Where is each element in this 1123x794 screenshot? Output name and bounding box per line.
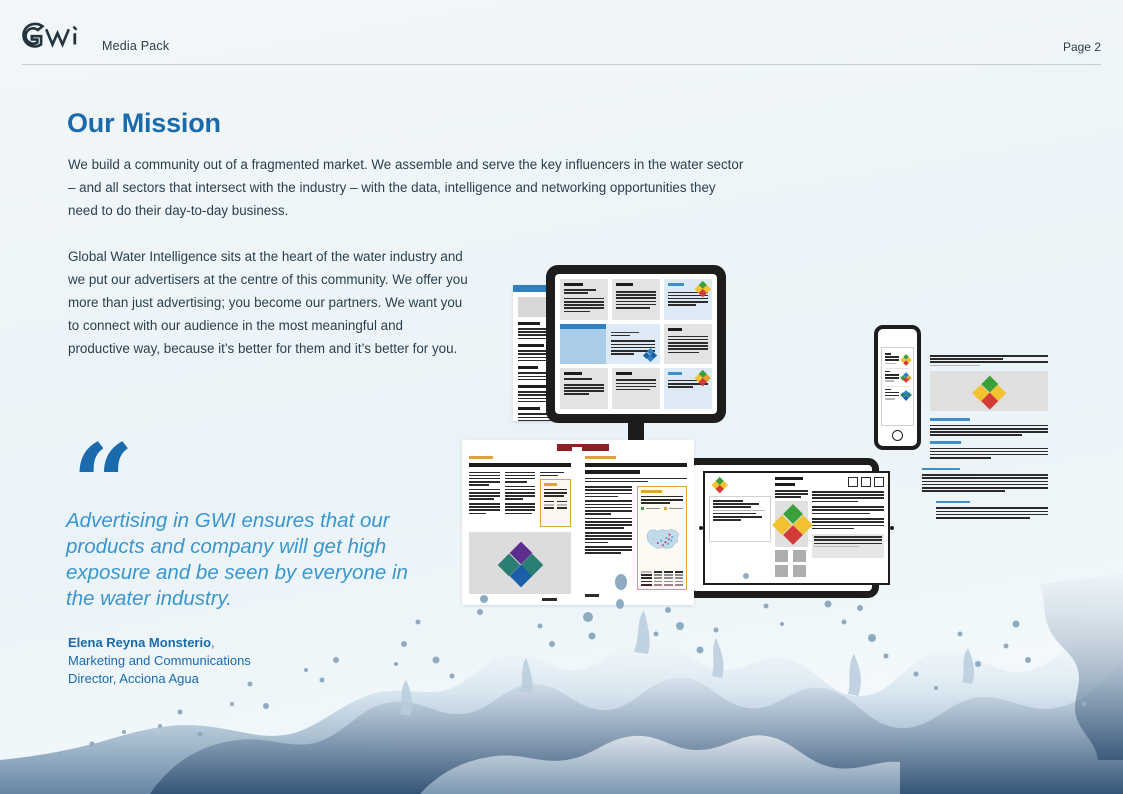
article-block-5: [936, 501, 1048, 519]
multi-device-publication-illustration: [450, 240, 1050, 610]
diamond-logo-icon: [775, 507, 809, 541]
brand-logo: Media Pack: [22, 22, 169, 56]
article-inline-ad: [930, 371, 1048, 411]
report-left-col-1: [469, 472, 500, 528]
desktop-monitor-graphic: [546, 265, 726, 450]
monitor-article-cell: [664, 324, 712, 365]
report-left-callout: [540, 472, 571, 528]
tablet-teaser: [775, 550, 790, 562]
diamond-logo-icon: [901, 355, 910, 364]
diamond-logo-icon: [713, 478, 726, 491]
phone-list-item: [885, 351, 910, 369]
page-number: Page 2: [1063, 40, 1101, 54]
article-block-4: [922, 468, 1048, 492]
tablet-social-icons: [812, 477, 884, 487]
monitor-sponsored-cell: [664, 279, 712, 320]
diamond-logo-icon: [696, 371, 709, 384]
monitor-feature-image: [560, 324, 606, 365]
diamond-logo-icon: [644, 349, 656, 361]
monitor-article-cell: [560, 279, 608, 320]
monitor-feature-cell: [560, 324, 660, 365]
page-title: Our Mission: [67, 108, 221, 139]
phone-home-button[interactable]: [892, 430, 903, 441]
mission-paragraph-1: We build a community out of a fragmented…: [68, 153, 748, 222]
monitor-sponsored-cell: [664, 368, 712, 409]
phone-screen: [881, 347, 914, 426]
tablet-side-ad: [812, 534, 884, 558]
linkedin-icon[interactable]: [848, 477, 858, 487]
header-divider: [22, 64, 1101, 65]
map-legend: [641, 507, 683, 510]
tablet-teaser: [793, 550, 808, 562]
tablet-hero-ad: [775, 501, 808, 547]
monitor-article-cell: [560, 368, 608, 409]
monitor-bezel: [546, 265, 726, 423]
page-header: Media Pack Page 2: [0, 0, 1123, 66]
diamond-logo-icon: [901, 391, 910, 400]
twitter-icon[interactable]: [874, 477, 884, 487]
monitor-article-cell: [612, 368, 660, 409]
article-block-3: [930, 441, 1048, 459]
phone-list-item: [885, 369, 910, 387]
monitor-stand-neck: [628, 423, 644, 441]
report-left-col-2: [505, 472, 536, 528]
water-splash-photograph: [0, 564, 1123, 794]
diamond-logo-icon: [901, 373, 910, 382]
gwi-logo-icon: [22, 22, 92, 56]
monitor-article-cell: [612, 279, 660, 320]
article-block-1: [930, 355, 1048, 366]
water-splash-icon: [0, 564, 1123, 794]
media-pack-label: Media Pack: [102, 39, 169, 56]
monitor-screen: [555, 274, 717, 414]
article-block-2: [930, 418, 1048, 436]
phone-list-item: [885, 387, 910, 404]
china-map-icon: [641, 512, 683, 564]
diamond-logo-icon: [975, 378, 1003, 406]
mission-paragraph-2: Global Water Intelligence sits at the he…: [68, 245, 468, 360]
tablet-sidebar-nav: [709, 496, 771, 542]
smartphone-graphic: [874, 325, 921, 450]
diamond-logo-icon: [696, 282, 709, 295]
tablet-sensor-icon: [890, 526, 894, 530]
facebook-icon[interactable]: [861, 477, 871, 487]
